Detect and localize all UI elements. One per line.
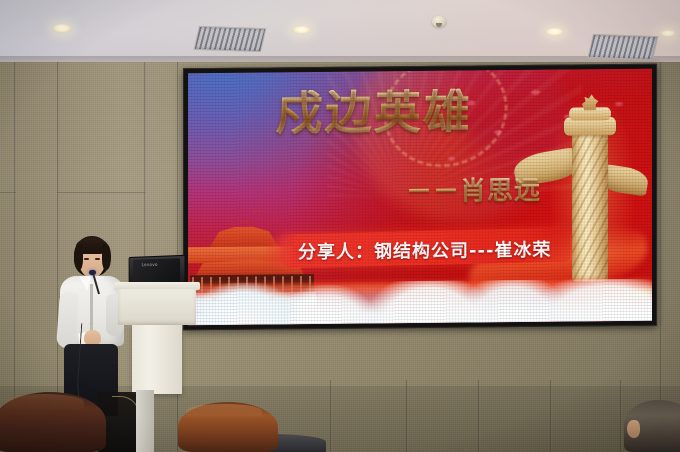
speaker-eye-left xyxy=(84,258,89,260)
wall-panel-seam xyxy=(620,380,622,452)
led-display-screen: 戍边英雄 －－肖思远 分享人：钢结构公司---崔冰荣 xyxy=(183,64,657,331)
slide-canvas: 戍边英雄 －－肖思远 分享人：钢结构公司---崔冰荣 xyxy=(188,69,652,325)
slide-title-text: 戍边英雄 xyxy=(275,84,473,141)
slide-author-line: －－肖思远 xyxy=(406,170,541,208)
wall-panel-seam xyxy=(406,380,408,452)
podium-upper-body xyxy=(118,289,196,325)
podium-lectern xyxy=(114,282,200,394)
bird-icon xyxy=(240,221,249,226)
laptop-brand-label: Lenovo xyxy=(142,262,158,267)
wall-panel-seam xyxy=(550,380,552,452)
downlight-icon xyxy=(292,26,311,34)
ceiling-air-vent xyxy=(587,34,658,60)
presentation-room-photo: 戍边英雄 －－肖思远 分享人：钢结构公司---崔冰荣 xyxy=(0,0,680,452)
wall-panel-seam-horizontal xyxy=(57,192,145,194)
ceiling-color-tint xyxy=(0,0,680,64)
speaker-hair-side-right xyxy=(102,244,111,270)
audience-head xyxy=(178,402,278,452)
audience-ear xyxy=(627,420,640,438)
wall-panel-seam-horizontal xyxy=(0,192,16,194)
wall-panel-seam xyxy=(330,380,332,452)
microphone-icon xyxy=(89,270,96,275)
huabiao-shaft xyxy=(572,131,608,281)
slide-presenter-line: 分享人：钢结构公司---崔冰荣 xyxy=(298,236,551,264)
cloud-band xyxy=(188,279,652,325)
speaker-eye-right xyxy=(95,258,100,260)
wall-panel-seam xyxy=(478,380,480,452)
downlight-icon xyxy=(52,24,72,33)
foreground-white-panel xyxy=(136,390,154,452)
downlight-icon xyxy=(545,28,564,36)
podium-column xyxy=(132,325,182,394)
smoke-detector-icon xyxy=(432,16,446,27)
bokeh-dot xyxy=(448,156,455,160)
speaker-hair-side-left xyxy=(74,244,83,270)
downlight-icon xyxy=(660,30,676,37)
speaker-arm-left xyxy=(56,291,79,348)
bird-icon xyxy=(253,211,260,215)
audience-head xyxy=(0,392,106,452)
slide-title: 戍边英雄 xyxy=(275,87,577,137)
ceiling-air-vent xyxy=(194,26,267,52)
